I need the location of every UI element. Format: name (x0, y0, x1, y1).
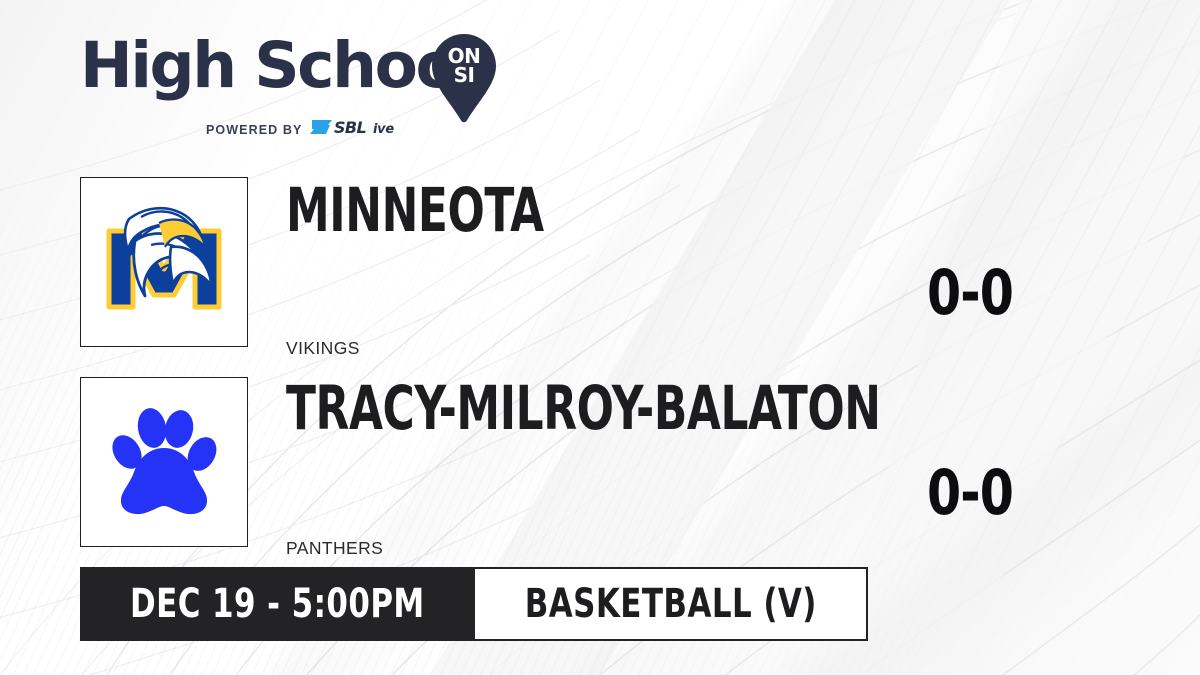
team-mascot-vikings: VIKINGS (286, 340, 360, 358)
team-record-minneota: 0-0 (882, 262, 1058, 324)
svg-text:SBL: SBL (334, 118, 367, 137)
svg-text:ive: ive (373, 122, 394, 137)
brand-wordmark: High School (80, 34, 476, 97)
event-info-bar: DEC 19 - 5:00PM BASKETBALL (V) (80, 567, 868, 641)
team-mascot-panthers: PANTHERS (286, 540, 383, 558)
team-name-minneota: MINNEOTA (286, 180, 544, 241)
event-datetime-label: DEC 19 - 5:00PM (130, 584, 425, 624)
panther-paw-print-icon (104, 400, 224, 525)
brand-header: High School ON SI POWERED BY SBL ive (80, 34, 510, 134)
onsi-pin-icon: ON SI (428, 32, 500, 124)
team-record-tracy-milroy-balaton: 0-0 (882, 462, 1058, 524)
vikings-m-logo-icon (99, 195, 229, 330)
event-sport-block: BASKETBALL (V) (475, 567, 869, 641)
svg-text:SI: SI (454, 63, 475, 87)
event-sport-label: BASKETBALL (V) (524, 584, 816, 624)
sblive-logo-icon: SBL ive (310, 116, 410, 143)
team-logo-box-minneota (80, 177, 248, 347)
team-name-tracy-milroy-balaton: TRACY-MILROY-BALATON (286, 378, 881, 439)
team-logo-box-tracy-milroy-balaton (80, 377, 248, 547)
event-datetime-block: DEC 19 - 5:00PM (80, 567, 475, 641)
powered-by-label: POWERED BY (206, 123, 302, 137)
powered-by-block: POWERED BY SBL ive (206, 116, 410, 143)
scoreboard-graphic: High School ON SI POWERED BY SBL ive (0, 0, 1200, 675)
